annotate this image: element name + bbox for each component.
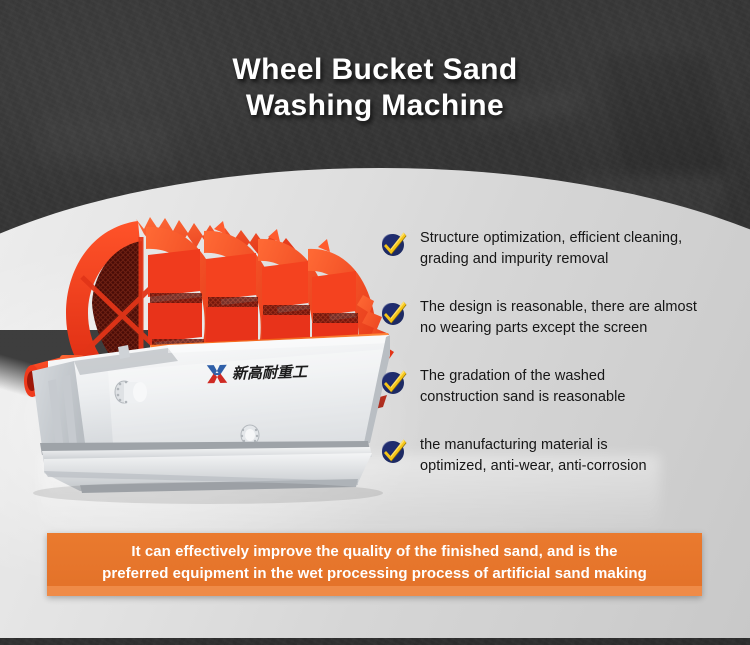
product-image-sand-washing-machine: [18, 185, 418, 505]
check-badge-icon: [380, 299, 408, 327]
title-line-2: Washing Machine: [0, 88, 750, 124]
feature-line-1: Structure optimization, efficient cleani…: [420, 228, 730, 249]
feature-item-3: The gradation of the washed construction…: [380, 366, 730, 435]
feature-line-1: The design is reasonable, there are almo…: [420, 297, 730, 318]
feature-line-2: no wearing parts except the screen: [420, 318, 730, 339]
banner-line-1: It can effectively improve the quality o…: [102, 541, 647, 563]
bottom-callout-banner: It can effectively improve the quality o…: [47, 533, 702, 596]
check-badge-icon: [380, 368, 408, 396]
feature-text: the manufacturing material is optimized,…: [420, 435, 730, 477]
feature-item-1: Structure optimization, efficient cleani…: [380, 228, 730, 297]
x-logo-icon: [206, 363, 229, 384]
brand-logo: 新高耐重工: [206, 361, 308, 385]
feature-text: Structure optimization, efficient cleani…: [420, 228, 730, 270]
feature-item-2: The design is reasonable, there are almo…: [380, 297, 730, 366]
check-badge-icon: [380, 437, 408, 465]
feature-text: The gradation of the washed construction…: [420, 366, 730, 408]
feature-text: The design is reasonable, there are almo…: [420, 297, 730, 339]
tank-flange-left: [115, 381, 147, 404]
check-badge-icon: [380, 230, 408, 258]
feature-line-2: optimized, anti-wear, anti-corrosion: [420, 456, 730, 477]
feature-line-1: The gradation of the washed: [420, 366, 730, 387]
feature-line-2: construction sand is reasonable: [420, 387, 730, 408]
feature-line-1: the manufacturing material is: [420, 435, 730, 456]
banner-text: It can effectively improve the quality o…: [102, 541, 647, 589]
title-line-1: Wheel Bucket Sand: [0, 52, 750, 88]
page-title: Wheel Bucket Sand Washing Machine: [0, 52, 750, 124]
feature-item-4: the manufacturing material is optimized,…: [380, 435, 730, 504]
feature-line-2: grading and impurity removal: [420, 249, 730, 270]
feature-list: Structure optimization, efficient cleani…: [380, 228, 730, 504]
promo-poster: 新高耐重工 Wheel Bucket Sand Washing Machine …: [0, 0, 750, 645]
brand-logo-text: 新高耐重工: [232, 361, 308, 384]
banner-line-2: preferred equipment in the wet processin…: [102, 563, 647, 585]
